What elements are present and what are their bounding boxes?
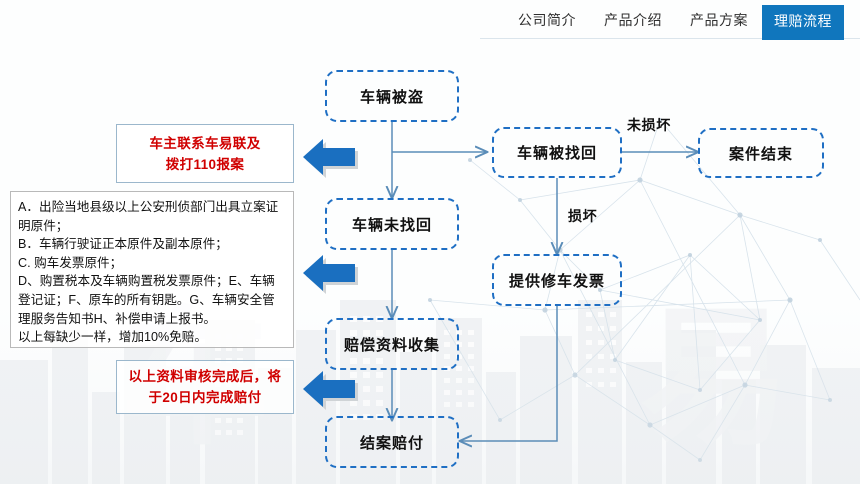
block-arrow-left-documents bbox=[297, 249, 359, 297]
block-arrow-left-payout bbox=[297, 365, 359, 413]
tab-bar: 公司简介 产品介绍 产品方案 理赔流程 bbox=[504, 5, 844, 40]
callout-owner-report: 车主联系车易联及 拨打110报案 bbox=[116, 124, 294, 183]
block-arrow-left-report bbox=[297, 133, 359, 181]
tab-claims-process[interactable]: 理赔流程 bbox=[762, 5, 844, 40]
document-line-a: A．出险当地县级以上公安刑侦部门出具立案证明原件； bbox=[18, 198, 286, 235]
callout-payout-deadline: 以上资料审核完成后，将 于20日内完成赔付 bbox=[116, 360, 294, 414]
flow-node-case-closed[interactable]: 案件结束 bbox=[698, 128, 824, 178]
tab-product-intro[interactable]: 产品介绍 bbox=[590, 5, 676, 37]
tab-company-intro[interactable]: 公司简介 bbox=[504, 5, 590, 37]
flow-node-vehicle-recovered[interactable]: 车辆被找回 bbox=[492, 127, 622, 178]
flow-node-collect-claim-documents[interactable]: 赔偿资料收集 bbox=[325, 318, 459, 370]
document-line-c: C. 购车发票原件； bbox=[18, 254, 286, 273]
callout-payout-line2: 于20日内完成赔付 bbox=[129, 387, 282, 408]
edge-label-undamaged: 未损坏 bbox=[627, 115, 671, 135]
flow-node-settlement-payout[interactable]: 结案赔付 bbox=[325, 416, 459, 468]
slide-canvas: 车 易 bbox=[0, 0, 860, 484]
callout-owner-report-line2: 拨打110报案 bbox=[149, 154, 260, 175]
document-line-d: D、购置税本及车辆购置税发票原件；E、车辆登记证；F、原车的所有钥匙。G、车辆安… bbox=[18, 272, 286, 328]
document-line-b: B．车辆行驶证正本原件及副本原件； bbox=[18, 235, 286, 254]
edge-label-damaged: 损坏 bbox=[568, 206, 597, 226]
flow-node-vehicle-not-found[interactable]: 车辆未找回 bbox=[325, 198, 459, 250]
callout-payout-line1: 以上资料审核完成后，将 bbox=[129, 366, 282, 387]
flow-node-provide-repair-invoice[interactable]: 提供修车发票 bbox=[492, 254, 622, 306]
tab-product-plan[interactable]: 产品方案 bbox=[676, 5, 762, 37]
callout-required-documents: A．出险当地县级以上公安刑侦部门出具立案证明原件； B．车辆行驶证正本原件及副本… bbox=[10, 191, 294, 348]
flow-node-vehicle-stolen[interactable]: 车辆被盗 bbox=[325, 70, 459, 122]
document-line-note: 以上每缺少一样，增加10%免赔。 bbox=[18, 328, 286, 347]
callout-owner-report-line1: 车主联系车易联及 bbox=[149, 133, 260, 154]
